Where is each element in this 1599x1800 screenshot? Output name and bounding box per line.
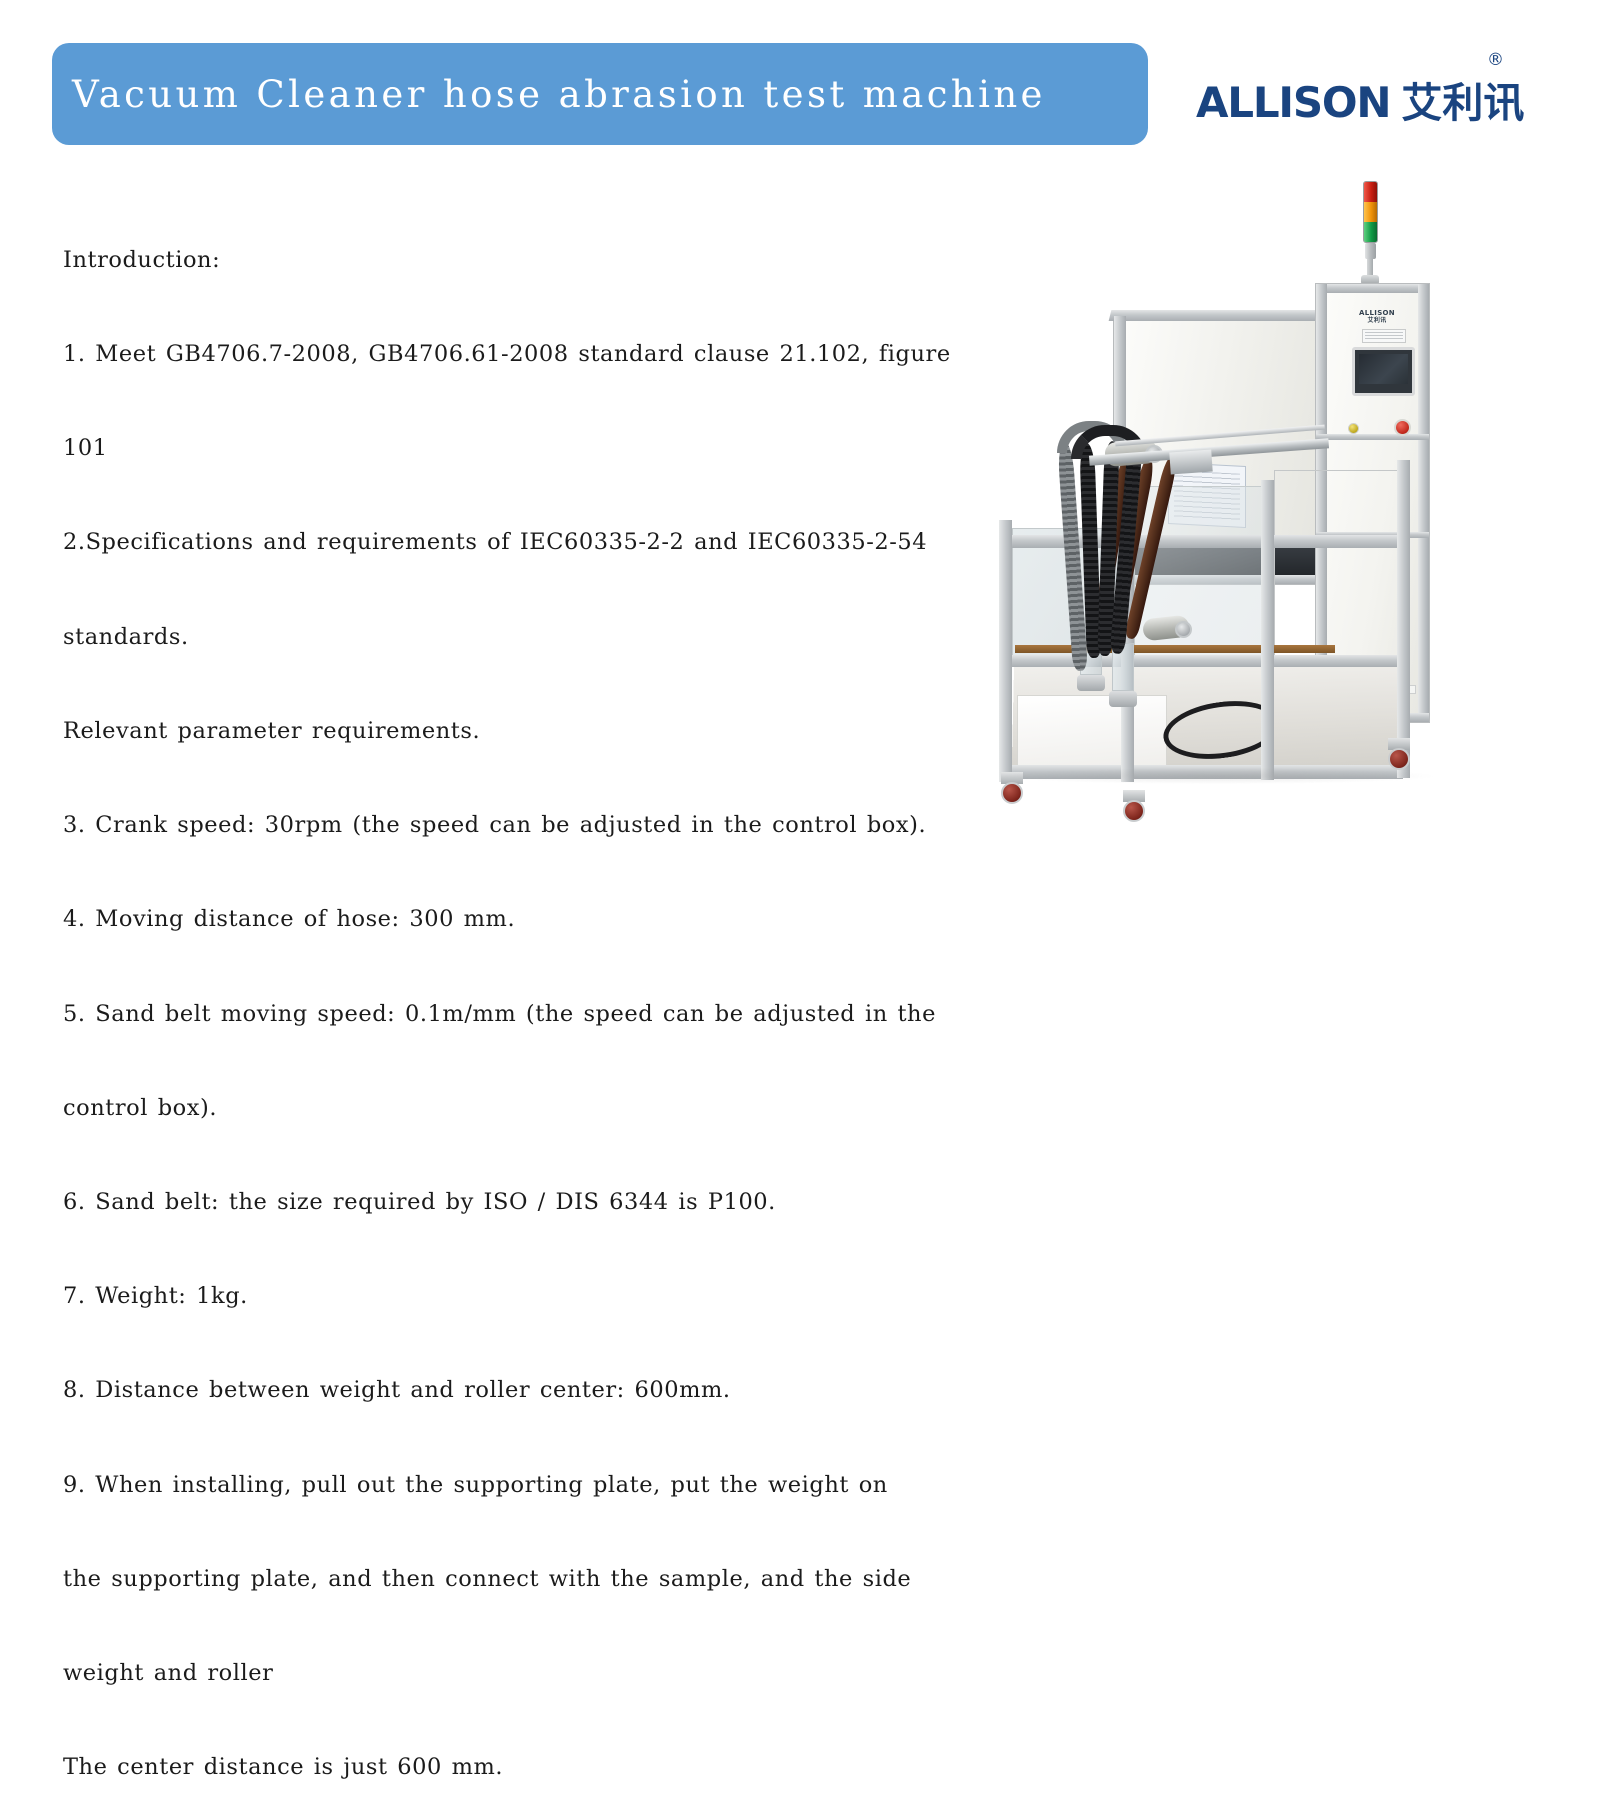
intro-line: 7. Weight: 1kg. bbox=[63, 1281, 983, 1312]
cart-base-tray bbox=[1017, 695, 1167, 767]
cabinet-top-rail bbox=[1316, 284, 1429, 293]
intro-line: the supporting plate, and then connect w… bbox=[63, 1564, 983, 1595]
tower-lamp-stack bbox=[1363, 181, 1378, 243]
lower-roller-hub bbox=[1175, 621, 1192, 638]
cart-right-post bbox=[1397, 460, 1410, 778]
touchscreen-hmi[interactable] bbox=[1352, 347, 1415, 396]
cabinet-brand-logo: ALLISON 艾利讯 bbox=[1346, 309, 1408, 325]
brand-cjk-text: 艾利讯 bbox=[1401, 83, 1524, 124]
cabinet-instruction-label bbox=[1362, 329, 1406, 343]
cart-mid-right-post bbox=[1261, 480, 1274, 780]
cart-middle-rail bbox=[1001, 655, 1401, 667]
intro-line: 9. When installing, pull out the support… bbox=[63, 1470, 983, 1501]
indicator-lamp-button[interactable] bbox=[1348, 423, 1359, 434]
intro-line: 5. Sand belt moving speed: 0.1m/mm (the … bbox=[63, 999, 983, 1030]
floor-shadow bbox=[1003, 768, 1433, 784]
cabinet-mid-rail bbox=[1316, 434, 1429, 440]
hose-end-fitting bbox=[1077, 675, 1105, 691]
cart-wood-strip bbox=[1015, 645, 1335, 653]
intro-line: 3. Crank speed: 30rpm (the speed can be … bbox=[63, 810, 983, 841]
intro-line: 8. Distance between weight and roller ce… bbox=[63, 1375, 983, 1406]
registered-trademark-icon: ® bbox=[1487, 52, 1504, 69]
intro-line: The center distance is just 600 mm. bbox=[63, 1752, 983, 1783]
intro-line: Relevant parameter requirements. bbox=[63, 716, 983, 747]
cart-left-post bbox=[999, 520, 1012, 782]
intro-line: Introduction: bbox=[63, 245, 983, 276]
brand-logo: ® ALLISON 艾利讯 bbox=[1196, 52, 1506, 144]
machine-cart-frame bbox=[993, 480, 1423, 790]
enclosure-top-rail bbox=[1109, 310, 1335, 321]
intro-line: 2.Specifications and requirements of IEC… bbox=[63, 527, 983, 558]
hose-end-fitting bbox=[1109, 691, 1137, 707]
brand-wordmark: ALLISON 艾利讯 bbox=[1196, 82, 1524, 124]
intro-line: 101 bbox=[63, 433, 983, 464]
emergency-stop-button[interactable] bbox=[1394, 419, 1411, 436]
caster-wheel bbox=[1001, 782, 1023, 804]
intro-line: 1. Meet GB4706.7-2008, GB4706.61-2008 st… bbox=[63, 339, 983, 370]
caster-wheel bbox=[1388, 748, 1410, 770]
signal-tower-light bbox=[1357, 175, 1383, 287]
intro-line: 6. Sand belt: the size required by ISO /… bbox=[63, 1187, 983, 1218]
brand-latin-text: ALLISON bbox=[1196, 82, 1390, 124]
intro-line: weight and roller bbox=[63, 1658, 983, 1689]
intro-line: 4. Moving distance of hose: 300 mm. bbox=[63, 904, 983, 935]
page-title: Vacuum Cleaner hose abrasion test machin… bbox=[52, 73, 1046, 116]
product-photo: ALLISON 艾利讯 bbox=[985, 175, 1545, 835]
cabinet-brand-latin: ALLISON bbox=[1359, 309, 1395, 317]
introduction-text-block: Introduction: 1. Meet GB4706.7-2008, GB4… bbox=[63, 182, 983, 1800]
crank-slider-block bbox=[1169, 450, 1212, 475]
tower-base bbox=[1365, 243, 1376, 259]
caster-wheel bbox=[1123, 800, 1145, 822]
cart-back-panel bbox=[1274, 470, 1398, 660]
intro-line: standards. bbox=[63, 622, 983, 653]
cabinet-brand-cjk: 艾利讯 bbox=[1346, 317, 1408, 325]
touchscreen-display[interactable] bbox=[1359, 354, 1408, 384]
tower-amber-lamp-icon bbox=[1364, 202, 1377, 222]
tower-red-lamp-icon bbox=[1364, 182, 1377, 202]
title-banner: Vacuum Cleaner hose abrasion test machin… bbox=[52, 43, 1148, 145]
tower-green-lamp-icon bbox=[1364, 222, 1377, 242]
intro-line: control box). bbox=[63, 1093, 983, 1124]
